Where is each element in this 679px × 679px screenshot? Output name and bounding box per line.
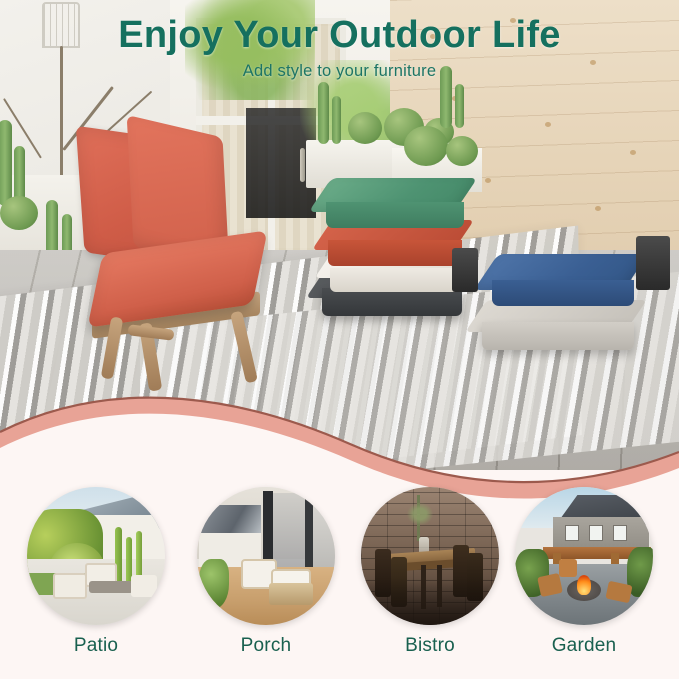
thumbnail-garden[interactable]: Garden [510, 487, 658, 657]
dark-pot [636, 236, 670, 290]
thumbnail-patio-image[interactable] [27, 487, 165, 625]
thumbnail-porch-label: Porch [192, 635, 340, 657]
cactus-columnar [318, 82, 329, 144]
thumbnail-porch[interactable]: Porch [192, 487, 340, 657]
patio-chair [70, 135, 285, 380]
dark-pot [452, 248, 478, 292]
cushion-green [320, 178, 466, 224]
thumbnail-garden-image[interactable] [515, 487, 653, 625]
category-thumbnails: Patio Porch [0, 487, 679, 679]
thumbnail-patio-label: Patio [22, 635, 170, 657]
thumbnail-porch-image[interactable] [197, 487, 335, 625]
cactus-barrel [348, 112, 382, 144]
page-subtitle: Add style to your furniture [0, 62, 679, 81]
chair-leg [230, 311, 258, 384]
cactus-columnar [332, 96, 341, 144]
cushion-light-gray [476, 300, 636, 340]
cactus-columnar [455, 84, 464, 128]
page-title: Enjoy Your Outdoor Life [0, 14, 679, 57]
cactus-barrel [0, 196, 38, 230]
thumbnail-bistro-image[interactable] [361, 487, 499, 625]
thumbnail-garden-label: Garden [510, 635, 658, 657]
thumbnail-bistro-label: Bistro [356, 635, 504, 657]
cactus-columnar [0, 120, 12, 206]
thumbnail-patio[interactable]: Patio [22, 487, 170, 657]
product-banner: Enjoy Your Outdoor Life Add style to you… [0, 0, 679, 679]
header-block: Enjoy Your Outdoor Life Add style to you… [0, 14, 679, 81]
cactus-barrel [446, 136, 478, 166]
thumbnail-bistro[interactable]: Bistro [356, 487, 504, 657]
cactus-barrel [404, 126, 448, 166]
cushion-navy [486, 254, 636, 302]
